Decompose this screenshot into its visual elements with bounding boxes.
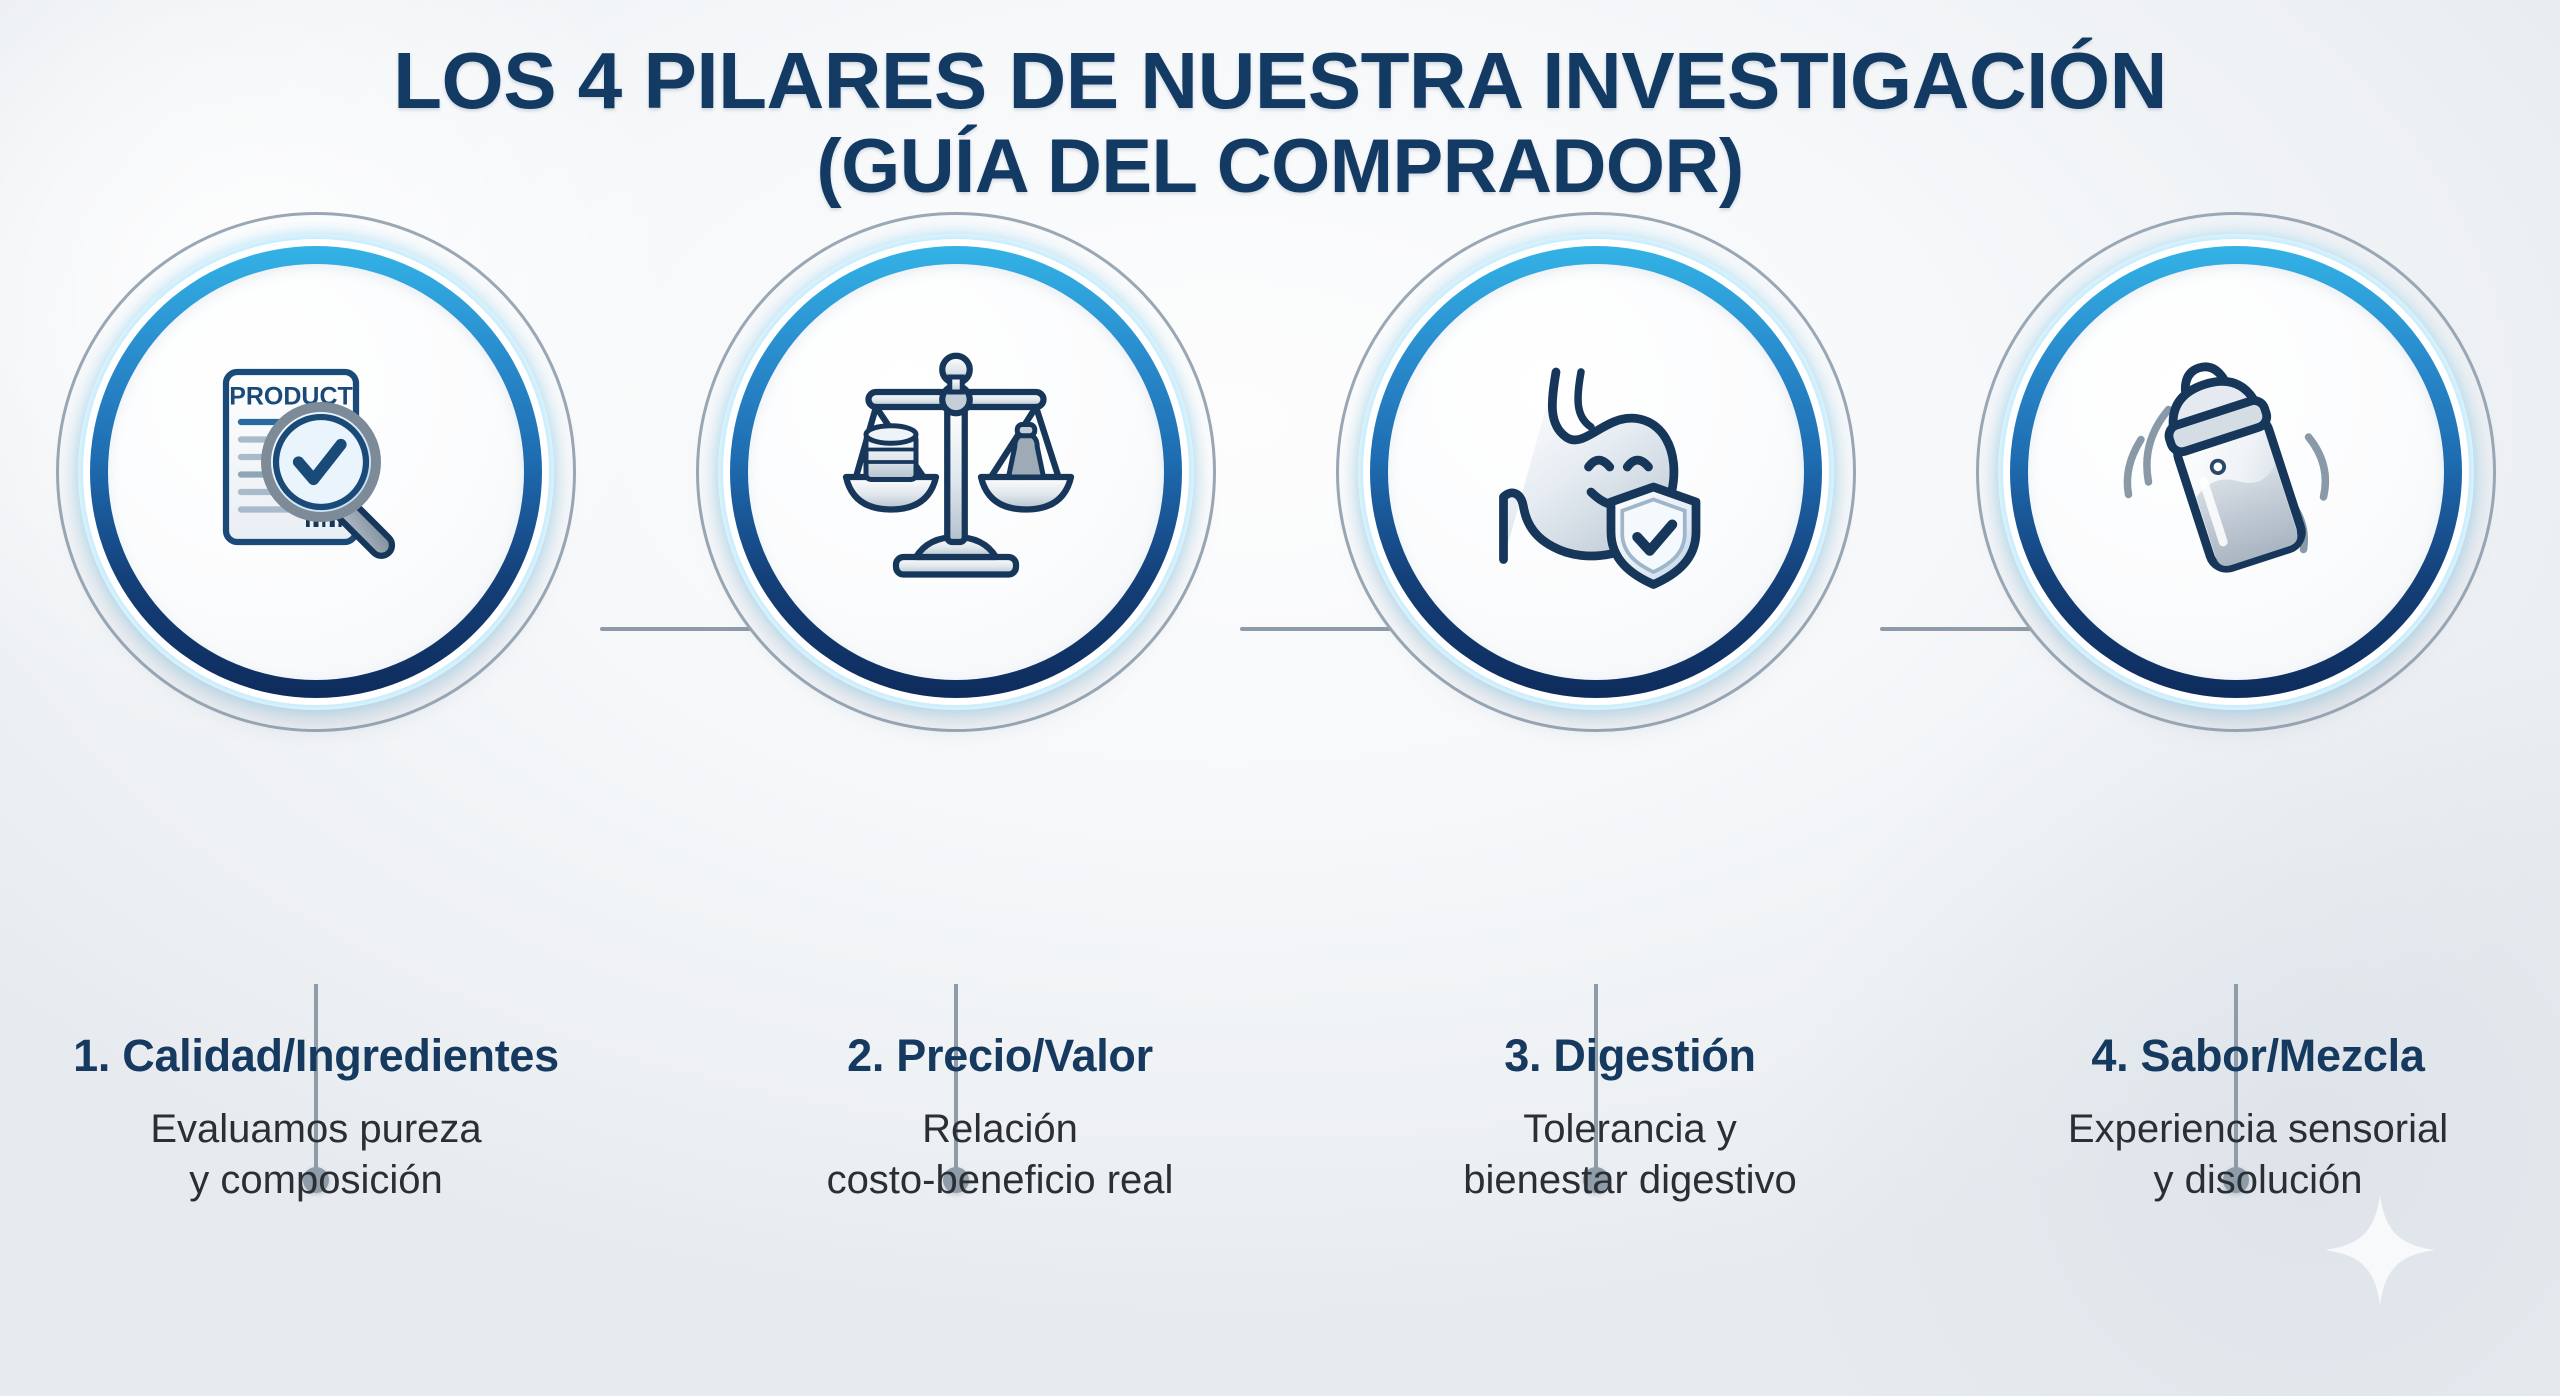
ring-inner-2 <box>748 264 1164 680</box>
title-line-2: (GUÍA DEL COMPRADOR) <box>0 128 2560 206</box>
ring-blue-1: PRODUCT <box>90 246 542 698</box>
pillars-row: PRODUCT <box>0 212 2560 772</box>
pillar-2-precio-valor[interactable] <box>676 212 1236 772</box>
caption-2: 2. Precio/Valor Relación costo-beneficio… <box>690 1030 1310 1206</box>
four-point-sparkle-icon <box>2320 1190 2440 1310</box>
ring-inner-4 <box>2028 264 2444 680</box>
caption-4: 4. Sabor/Mezcla Experiencia sensorial y … <box>1948 1030 2560 1206</box>
ring-blue-3 <box>1370 246 1822 698</box>
shaker-bottle-motion-icon <box>2111 347 2361 597</box>
ring-inner-3 <box>1388 264 1804 680</box>
caption-3-heading: 3. Digestión <box>1320 1030 1940 1082</box>
pillar-3-digestion[interactable] <box>1316 212 1876 772</box>
document-magnifier-check-icon: PRODUCT <box>191 347 441 597</box>
ring-blue-2 <box>730 246 1182 698</box>
title-line-1: LOS 4 PILARES DE NUESTRA INVESTIGACIÓN <box>0 40 2560 122</box>
smiling-stomach-shield-icon <box>1471 347 1721 597</box>
caption-4-subtitle: Experiencia sensorial y disolución <box>1948 1104 2560 1206</box>
caption-1-heading: 1. Calidad/Ingredientes <box>6 1030 626 1082</box>
ring-inner-1: PRODUCT <box>108 264 524 680</box>
pillar-4-sabor-mezcla[interactable] <box>1956 212 2516 772</box>
caption-3-subtitle: Tolerancia y bienestar digestivo <box>1320 1104 1940 1206</box>
balance-scale-coins-weight-icon <box>831 347 1081 597</box>
caption-3: 3. Digestión Tolerancia y bienestar dige… <box>1320 1030 1940 1206</box>
caption-1-subtitle: Evaluamos pureza y composición <box>6 1104 626 1206</box>
caption-2-subtitle: Relación costo-beneficio real <box>690 1104 1310 1206</box>
pillar-1-calidad-ingredientes[interactable]: PRODUCT <box>36 212 596 772</box>
infographic-canvas: LOS 4 PILARES DE NUESTRA INVESTIGACIÓN (… <box>0 0 2560 1396</box>
page-title: LOS 4 PILARES DE NUESTRA INVESTIGACIÓN (… <box>0 40 2560 205</box>
caption-2-heading: 2. Precio/Valor <box>690 1030 1310 1082</box>
ring-blue-4 <box>2010 246 2462 698</box>
caption-1: 1. Calidad/Ingredientes Evaluamos pureza… <box>6 1030 626 1206</box>
caption-4-heading: 4. Sabor/Mezcla <box>1948 1030 2560 1082</box>
